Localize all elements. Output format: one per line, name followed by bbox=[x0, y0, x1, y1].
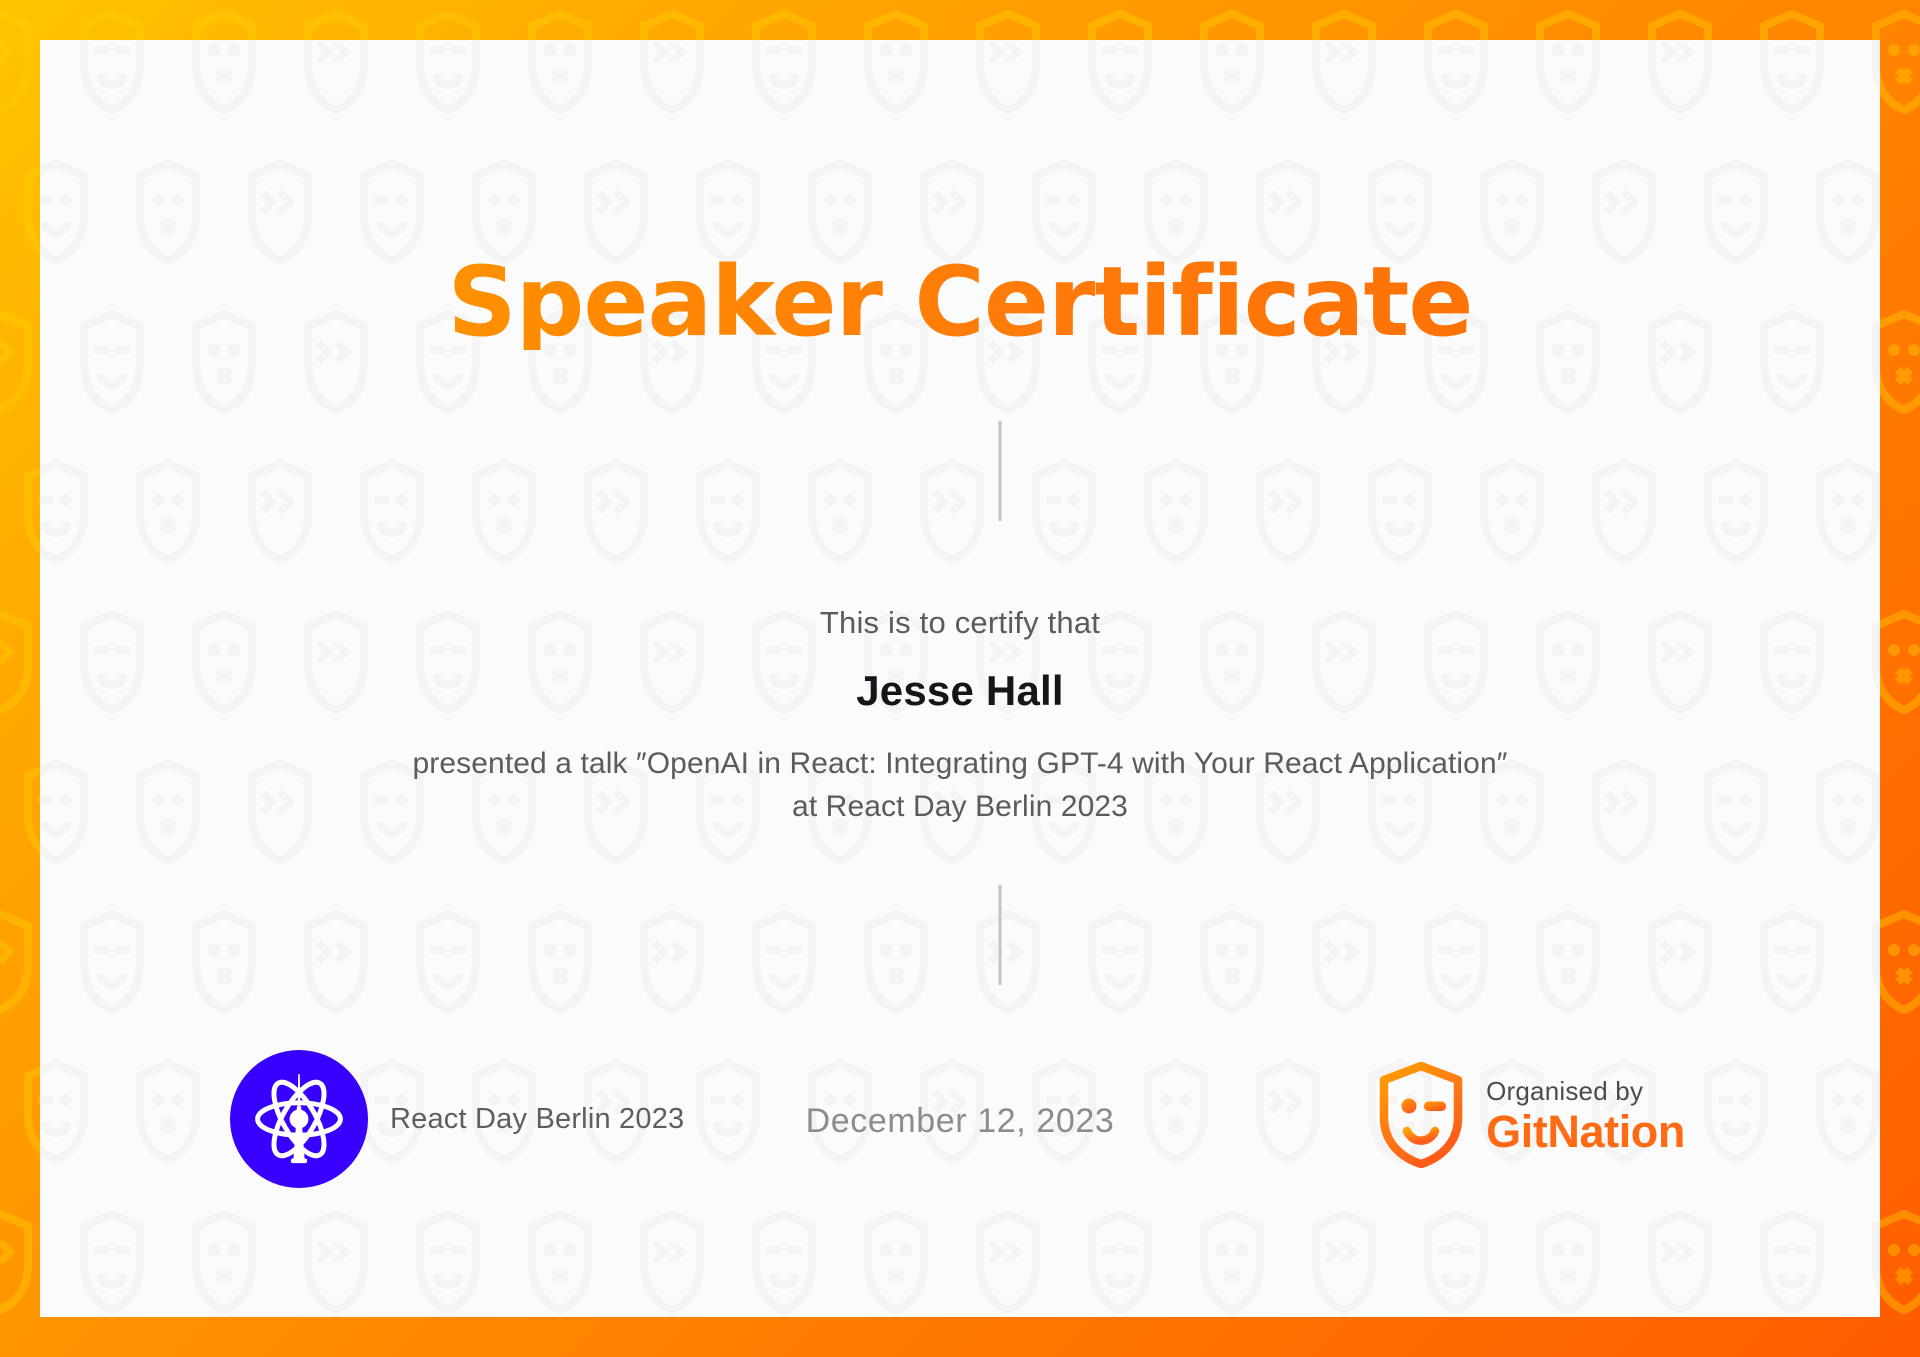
page-title: Speaker Certificate bbox=[40, 254, 1880, 350]
organiser-name: GitNation bbox=[1486, 1107, 1685, 1157]
certificate-footer: React Day Berlin 2023 December 12, 2023 bbox=[40, 1050, 1880, 1220]
talk-title-line: presented a talk ″OpenAI in React: Integ… bbox=[160, 743, 1760, 786]
divider-bottom bbox=[999, 885, 1002, 985]
divider-top bbox=[999, 421, 1002, 521]
organiser-text: Organised by GitNation bbox=[1486, 1077, 1685, 1157]
gitnation-shield-icon bbox=[1378, 1062, 1464, 1173]
organiser-brand: Organised by GitNation bbox=[1378, 1062, 1685, 1173]
certificate-root: Speaker Certificate This is to certify t… bbox=[0, 0, 1920, 1357]
certify-line: This is to certify that bbox=[40, 605, 1880, 641]
organised-by-label: Organised by bbox=[1486, 1077, 1685, 1107]
certificate-card: Speaker Certificate This is to certify t… bbox=[40, 40, 1880, 1317]
talk-description: presented a talk ″OpenAI in React: Integ… bbox=[160, 743, 1760, 828]
talk-event-line: at React Day Berlin 2023 bbox=[160, 786, 1760, 829]
recipient-name: Jesse Hall bbox=[40, 667, 1880, 715]
